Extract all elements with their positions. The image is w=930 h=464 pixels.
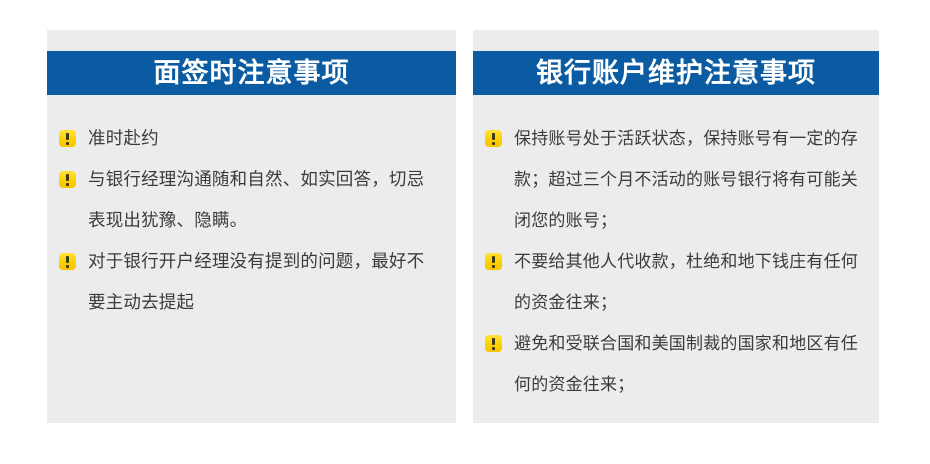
exclamation-badge-icon (59, 171, 76, 188)
list-item-text: 避免和受联合国和美国制裁的国家和地区有任何的资金往来； (514, 324, 861, 406)
exclamation-badge-icon (485, 253, 502, 270)
list-item: 不要给其他人代收款，杜绝和地下钱庄有任何的资金往来； (485, 242, 861, 324)
panel-body-interview-tips: 准时赴约 与银行经理沟通随和自然、如实回答，切忌表现出犹豫、隐瞒。 对于银行开户… (47, 95, 456, 324)
list-item-text: 准时赴约 (88, 119, 438, 160)
list-item-text: 对于银行开户经理没有提到的问题，最好不要主动去提起 (88, 242, 438, 324)
infographic-stage: 面签时注意事项 准时赴约 与银行经理沟通随和自然、如实回答，切忌表现出犹豫、隐瞒… (0, 0, 930, 464)
list-item-text: 与银行经理沟通随和自然、如实回答，切忌表现出犹豫、隐瞒。 (88, 160, 438, 242)
panel-header-interview-tips: 面签时注意事项 (47, 51, 456, 95)
list-item: 保持账号处于活跃状态，保持账号有一定的存款；超过三个月不活动的账号银行将有可能关… (485, 119, 861, 242)
list-item-text: 保持账号处于活跃状态，保持账号有一定的存款；超过三个月不活动的账号银行将有可能关… (514, 119, 861, 242)
panel-body-bank-account-maintenance-tips: 保持账号处于活跃状态，保持账号有一定的存款；超过三个月不活动的账号银行将有可能关… (473, 95, 879, 406)
list-item: 避免和受联合国和美国制裁的国家和地区有任何的资金往来； (485, 324, 861, 406)
panel-title-bank-account-maintenance-tips: 银行账户维护注意事项 (536, 60, 816, 87)
exclamation-badge-icon (59, 130, 76, 147)
exclamation-badge-icon (485, 335, 502, 352)
list-item: 与银行经理沟通随和自然、如实回答，切忌表现出犹豫、隐瞒。 (59, 160, 438, 242)
panel-bank-account-maintenance-tips: 银行账户维护注意事项 保持账号处于活跃状态，保持账号有一定的存款；超过三个月不活… (473, 30, 879, 423)
exclamation-badge-icon (59, 253, 76, 270)
list-item: 对于银行开户经理没有提到的问题，最好不要主动去提起 (59, 242, 438, 324)
list-item-text: 不要给其他人代收款，杜绝和地下钱庄有任何的资金往来； (514, 242, 861, 324)
panel-header-bank-account-maintenance-tips: 银行账户维护注意事项 (473, 51, 879, 95)
list-item: 准时赴约 (59, 119, 438, 160)
exclamation-badge-icon (485, 130, 502, 147)
panel-title-interview-tips: 面签时注意事项 (154, 60, 350, 87)
panel-interview-tips: 面签时注意事项 准时赴约 与银行经理沟通随和自然、如实回答，切忌表现出犹豫、隐瞒… (47, 30, 456, 423)
